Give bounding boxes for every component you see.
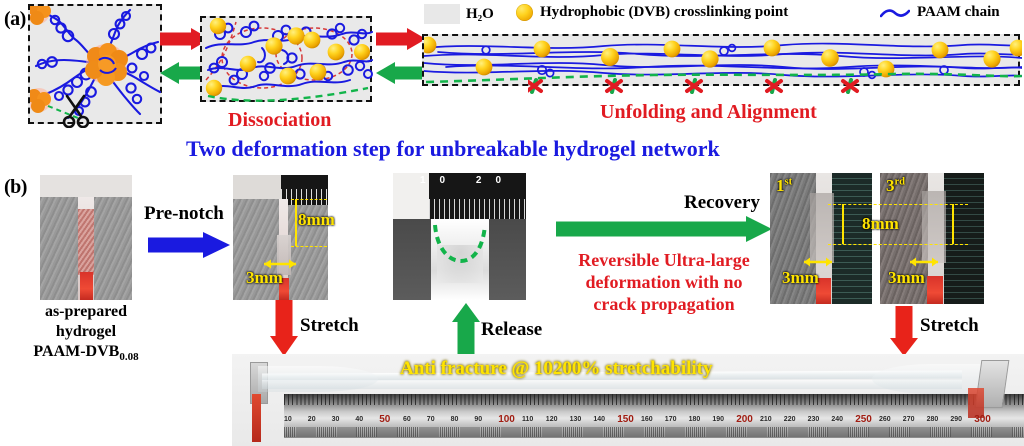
ruler-tick-label: 220 bbox=[784, 416, 796, 423]
cycle-3-width-label: 3mm bbox=[888, 268, 925, 288]
sample-caption-line1: as-prepared bbox=[24, 302, 148, 322]
sample-caption-formula: PAAM-DVB bbox=[33, 343, 119, 360]
recovery-label: Recovery bbox=[684, 192, 760, 214]
photo-as-prepared-hydrogel bbox=[40, 175, 132, 300]
cycle-3-ordinal: 3rd bbox=[886, 176, 905, 196]
unfolding-alignment-label: Unfolding and Alignment bbox=[600, 101, 817, 124]
ruler-tick-label: 190 bbox=[712, 416, 724, 423]
legend-item-chain: PAAM chain bbox=[880, 4, 1000, 21]
ruler-tick-label: 230 bbox=[808, 416, 820, 423]
caliper-scale-numbers: 10 20 30 bbox=[420, 175, 571, 186]
schematic-coiled-network bbox=[28, 4, 162, 124]
legend-label-crosslink: Hydrophobic (DVB) crosslinking point bbox=[540, 4, 788, 21]
dissociation-label: Dissociation bbox=[228, 109, 331, 132]
ruler-tick-label: 60 bbox=[403, 416, 411, 423]
ruler-tick-label: 90 bbox=[474, 416, 482, 423]
ruler-tick-label: 270 bbox=[903, 416, 915, 423]
highlight-note-line3: crack propagation bbox=[556, 293, 772, 315]
reverse-arrow-2 bbox=[376, 62, 426, 84]
cycle-1-dim-vertical bbox=[842, 204, 844, 244]
legend-label-chain: PAAM chain bbox=[917, 4, 1000, 21]
recovery-arrow bbox=[556, 216, 772, 242]
cycle-1-ordinal: 1st bbox=[776, 176, 792, 196]
legend-label-water: H₂O bbox=[466, 6, 494, 23]
ruler-tick-label: 250 bbox=[855, 414, 872, 425]
photo-released-sample bbox=[393, 173, 526, 300]
ruler-tick-label: 160 bbox=[641, 416, 653, 423]
schematic-caption: Two deformation step for unbreakable hyd… bbox=[186, 136, 720, 162]
ruler-tick-label: 20 bbox=[308, 416, 316, 423]
stretch-label-right: Stretch bbox=[920, 315, 979, 337]
crack-outline-dashed bbox=[429, 219, 491, 279]
ruler-tick-label: 80 bbox=[451, 416, 459, 423]
ruler-tick-label: 290 bbox=[950, 416, 962, 423]
sample-caption-line2: hydrogel bbox=[24, 322, 148, 342]
ruler-tick-label: 70 bbox=[427, 416, 435, 423]
ruler-tick-label: 300 bbox=[974, 414, 991, 425]
notch-dim-vertical bbox=[295, 199, 297, 246]
coiled-network-drawing bbox=[30, 6, 164, 126]
cycle-dim-bottom-line bbox=[828, 244, 968, 245]
notch-dim-bottom-line bbox=[291, 246, 327, 247]
blue-chain-swatch bbox=[880, 6, 910, 20]
ruler-number-scale: 1020304050607080901001101201301401501601… bbox=[284, 416, 1004, 428]
legend-item-crosslink: Hydrophobic (DVB) crosslinking point bbox=[516, 4, 788, 21]
ruler-tick-label: 170 bbox=[665, 416, 677, 423]
stretchability-note: Anti fracture @ 10200% stretchability bbox=[400, 358, 712, 380]
dissociated-network-drawing bbox=[202, 18, 374, 104]
water-square-swatch bbox=[424, 4, 460, 24]
ruler-tick-label: 50 bbox=[379, 414, 390, 425]
forward-arrow-2 bbox=[376, 28, 426, 50]
ruler-tick-label: 100 bbox=[498, 414, 515, 425]
cycle-3-dim-vertical bbox=[952, 204, 954, 244]
crosslink-cluster bbox=[85, 43, 128, 86]
cycle-height-label: 8mm bbox=[862, 214, 899, 234]
ruler-tick-label: 120 bbox=[546, 416, 558, 423]
ruler-tick-label: 240 bbox=[831, 416, 843, 423]
ruler-tick-label: 200 bbox=[736, 414, 753, 425]
panel-a-label: (a) bbox=[4, 8, 26, 31]
ruler-tick-label: 30 bbox=[332, 416, 340, 423]
release-label: Release bbox=[481, 319, 542, 341]
sample-caption-line3: PAAM-DVB0.08 bbox=[10, 342, 162, 367]
pre-notch-arrow bbox=[148, 232, 230, 258]
notch-height-label: 8mm bbox=[298, 210, 335, 230]
ruler-tick-label: 40 bbox=[355, 416, 363, 423]
cycle-dim-top-line bbox=[828, 204, 968, 205]
yellow-sphere-swatch bbox=[516, 4, 533, 21]
highlight-note-line1: Reversible Ultra-large bbox=[556, 249, 772, 271]
ruler-tick-label: 210 bbox=[760, 416, 772, 423]
ruler-tick-label: 260 bbox=[879, 416, 891, 423]
ruler-tick-label: 110 bbox=[522, 416, 533, 423]
scissors-icon bbox=[60, 92, 92, 128]
release-arrow bbox=[452, 303, 480, 355]
stretch-arrow-left bbox=[270, 300, 298, 356]
stretch-label-left: Stretch bbox=[300, 315, 359, 337]
sample-caption-subscript: 0.08 bbox=[119, 351, 138, 363]
highlight-note-line2: deformation with no bbox=[556, 271, 772, 293]
panel-b-label: (b) bbox=[4, 176, 27, 199]
schematic-dissociated-network bbox=[200, 16, 372, 102]
pre-notch-label: Pre-notch bbox=[144, 203, 224, 225]
ruler-tick-label: 150 bbox=[617, 414, 634, 425]
cycle-3-width-arrow bbox=[908, 256, 940, 268]
ruler-tick-label: 180 bbox=[689, 416, 701, 423]
ruler-tick-label: 140 bbox=[593, 416, 605, 423]
cycle-1-width-label: 3mm bbox=[782, 268, 819, 288]
legend-item-water: H₂O bbox=[424, 4, 494, 24]
ruler-tick-label: 10 bbox=[284, 416, 292, 423]
notch-width-label: 3mm bbox=[246, 268, 283, 288]
stretch-arrow-right bbox=[890, 306, 918, 356]
cycle-1-width-arrow bbox=[802, 256, 834, 268]
ruler-tick-label: 130 bbox=[570, 416, 582, 423]
ruler-tick-label: 280 bbox=[927, 416, 939, 423]
crack-arrest-markers bbox=[528, 76, 868, 102]
